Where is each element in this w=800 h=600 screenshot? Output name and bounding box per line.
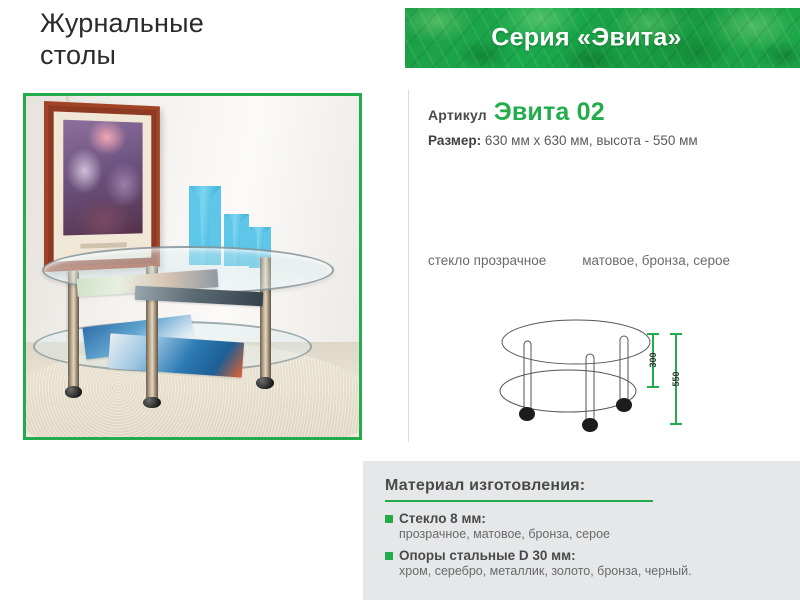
series-banner: Серия «Эвита»	[405, 8, 800, 68]
materials-title-underline	[385, 500, 653, 502]
series-banner-title: Серия «Эвита»	[405, 24, 800, 53]
photo-table-caster	[143, 397, 161, 409]
product-photo-frame	[23, 93, 362, 440]
photo-artwork-mat	[54, 112, 151, 262]
article-line: Артикул Эвита 02	[428, 98, 605, 127]
material-item-glass: Стекло 8 мм: прозрачное, матовое, бронза…	[385, 511, 778, 541]
photo-table-caster	[256, 377, 274, 389]
materials-box: Материал изготовления: Стекло 8 мм: проз…	[363, 461, 800, 600]
photo-glass-table	[33, 246, 353, 423]
materials-title: Материал изготовления:	[385, 477, 778, 500]
photo-table-caster	[65, 386, 83, 398]
page-title: Журнальные столы	[40, 8, 360, 72]
bullet-square-icon	[385, 515, 393, 523]
technical-drawing-svg: 300 550	[498, 312, 708, 432]
bullet-square-icon	[385, 552, 393, 560]
size-value: 630 мм x 630 мм, высота - 550 мм	[485, 133, 698, 148]
glass-option-others: матовое, бронза, серое	[582, 253, 730, 268]
material-legs-title: Опоры стальные D 30 мм:	[399, 548, 576, 563]
glass-option-transparent: стекло прозрачное	[428, 253, 546, 268]
dimension-300-label: 300	[648, 352, 658, 367]
dimension-550-label: 550	[671, 371, 681, 386]
column-divider	[408, 90, 409, 442]
drawing-bottom-shelf	[500, 370, 636, 412]
size-line: Размер: 630 мм x 630 мм, высота - 550 мм	[428, 133, 698, 148]
material-glass-options: прозрачное, матовое, бронза, серое	[385, 527, 778, 541]
material-glass-title: Стекло 8 мм:	[399, 511, 486, 526]
material-head-row: Опоры стальные D 30 мм:	[385, 548, 778, 563]
drawing-legs	[524, 336, 628, 422]
drawing-casters	[519, 398, 632, 432]
glass-options: стекло прозрачное матовое, бронза, серое	[428, 253, 730, 268]
article-label: Артикул	[428, 107, 487, 123]
material-legs-options: хром, серебро, металлик, золото, бронза,…	[385, 564, 778, 578]
photo-artwork-image	[64, 120, 143, 235]
size-label: Размер:	[428, 133, 481, 148]
material-head-row: Стекло 8 мм:	[385, 511, 778, 526]
article-value: Эвита 02	[494, 98, 605, 127]
product-photo	[26, 96, 359, 437]
technical-drawing: 300 550	[498, 312, 708, 432]
material-item-legs: Опоры стальные D 30 мм: хром, серебро, м…	[385, 548, 778, 578]
